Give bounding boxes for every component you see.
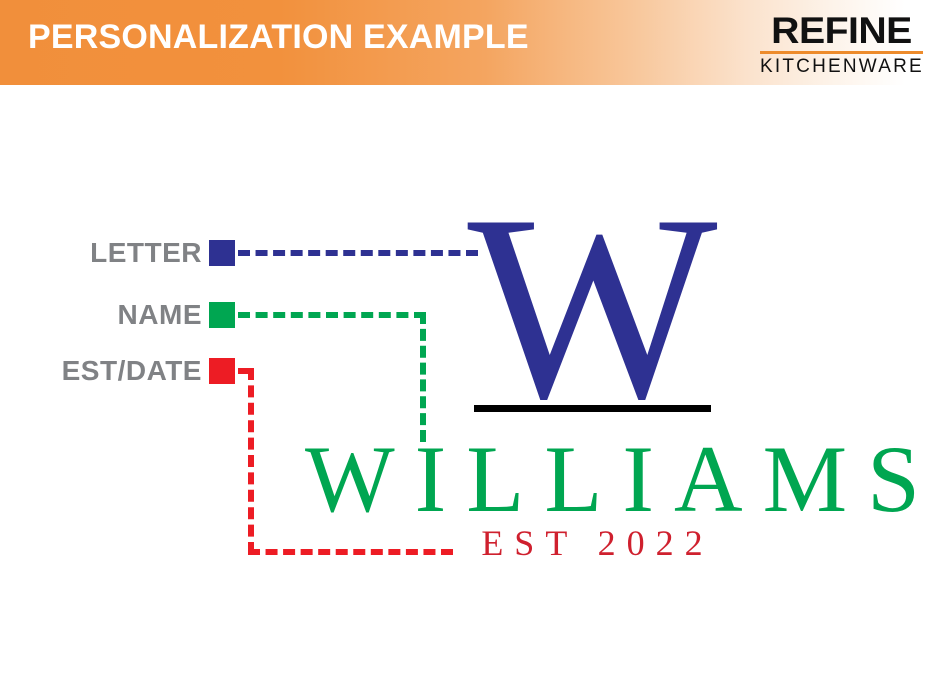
legend-swatch-estdate — [209, 358, 235, 384]
legend-swatch-name — [209, 302, 235, 328]
legend-label-letter: LETTER — [90, 237, 202, 269]
brand-logo: REFINE KITCHENWARE — [760, 12, 923, 77]
legend-item-estdate: EST/DATE — [0, 355, 235, 387]
header-bar: PERSONALIZATION EXAMPLE REFINE KITCHENWA… — [0, 0, 933, 85]
legend-swatch-letter — [209, 240, 235, 266]
legend-label-estdate: EST/DATE — [62, 355, 202, 387]
brand-name: REFINE — [755, 12, 928, 50]
connector-name-horizontal — [238, 312, 426, 318]
monogram-family-name: WILLIAMS — [0, 432, 933, 527]
page-title: PERSONALIZATION EXAMPLE — [28, 18, 529, 57]
monogram-divider-rule — [474, 405, 711, 412]
legend-item-letter: LETTER — [0, 237, 235, 269]
legend-label-name: NAME — [118, 299, 202, 331]
connector-name-vertical — [420, 312, 426, 442]
brand-rule-divider — [760, 51, 923, 54]
monogram-established-date: EST 2022 — [0, 525, 933, 561]
personalization-example-slide: PERSONALIZATION EXAMPLE REFINE KITCHENWA… — [0, 0, 933, 700]
legend-item-name: NAME — [0, 299, 235, 331]
monogram-initial: W — [440, 175, 745, 440]
brand-subtitle: KITCHENWARE — [760, 56, 923, 77]
